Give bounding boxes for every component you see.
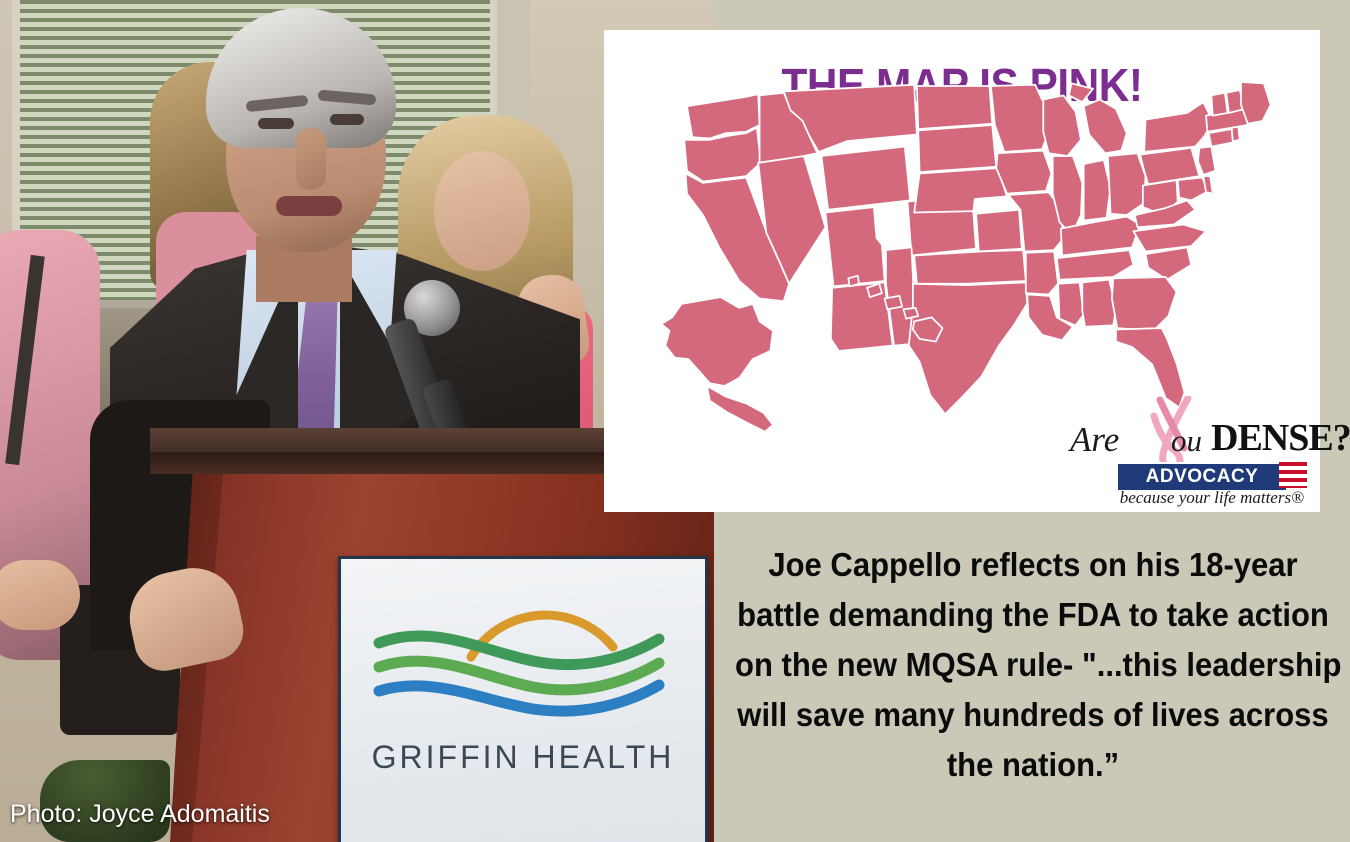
griffin-health-sign: GRIFFIN HEALTH [338, 556, 708, 842]
flag-stripes-icon [1279, 462, 1307, 488]
caption-line: will save many hundreds of lives across [735, 690, 1331, 740]
griffin-health-logo-icon [363, 595, 683, 725]
speaker-nose [296, 128, 326, 190]
advocacy-label: ADVOCACY [1146, 466, 1259, 488]
caption-line: the nation.” [735, 740, 1331, 790]
griffin-health-wordmark: GRIFFIN HEALTH [341, 739, 705, 776]
caption-line: battle demanding the FDA to take action [735, 590, 1331, 640]
logo-word-are: Are [1070, 420, 1119, 460]
bystander-left-arm [0, 560, 80, 630]
caption-block: Joe Cappello reflects on his 18-year bat… [735, 540, 1331, 790]
woman-face [434, 151, 530, 271]
logo-word-dense: DENSE? [1211, 416, 1350, 460]
caption-line: Joe Cappello reflects on his 18-year [735, 540, 1331, 590]
speaker-mouth [276, 196, 342, 216]
logo-tagline: because your life matters® [1114, 488, 1304, 508]
logo-word-ou: ou [1171, 423, 1202, 459]
photo-credit: Photo: Joyce Adomaitis [10, 800, 270, 829]
are-you-dense-advocacy-logo: Are ou DENSE? ADVOCACY because your life… [1066, 410, 1302, 506]
poster-canvas: GRIFFIN HEALTH Photo: Joyce Adomaitis TH… [0, 0, 1350, 842]
map-card: THE MAP IS PINK! [604, 30, 1320, 512]
speaker-eye-right [330, 114, 364, 125]
caption-line: on the new MQSA rule- "...this leadershi… [735, 640, 1331, 690]
speaker-eye-left [258, 118, 294, 129]
